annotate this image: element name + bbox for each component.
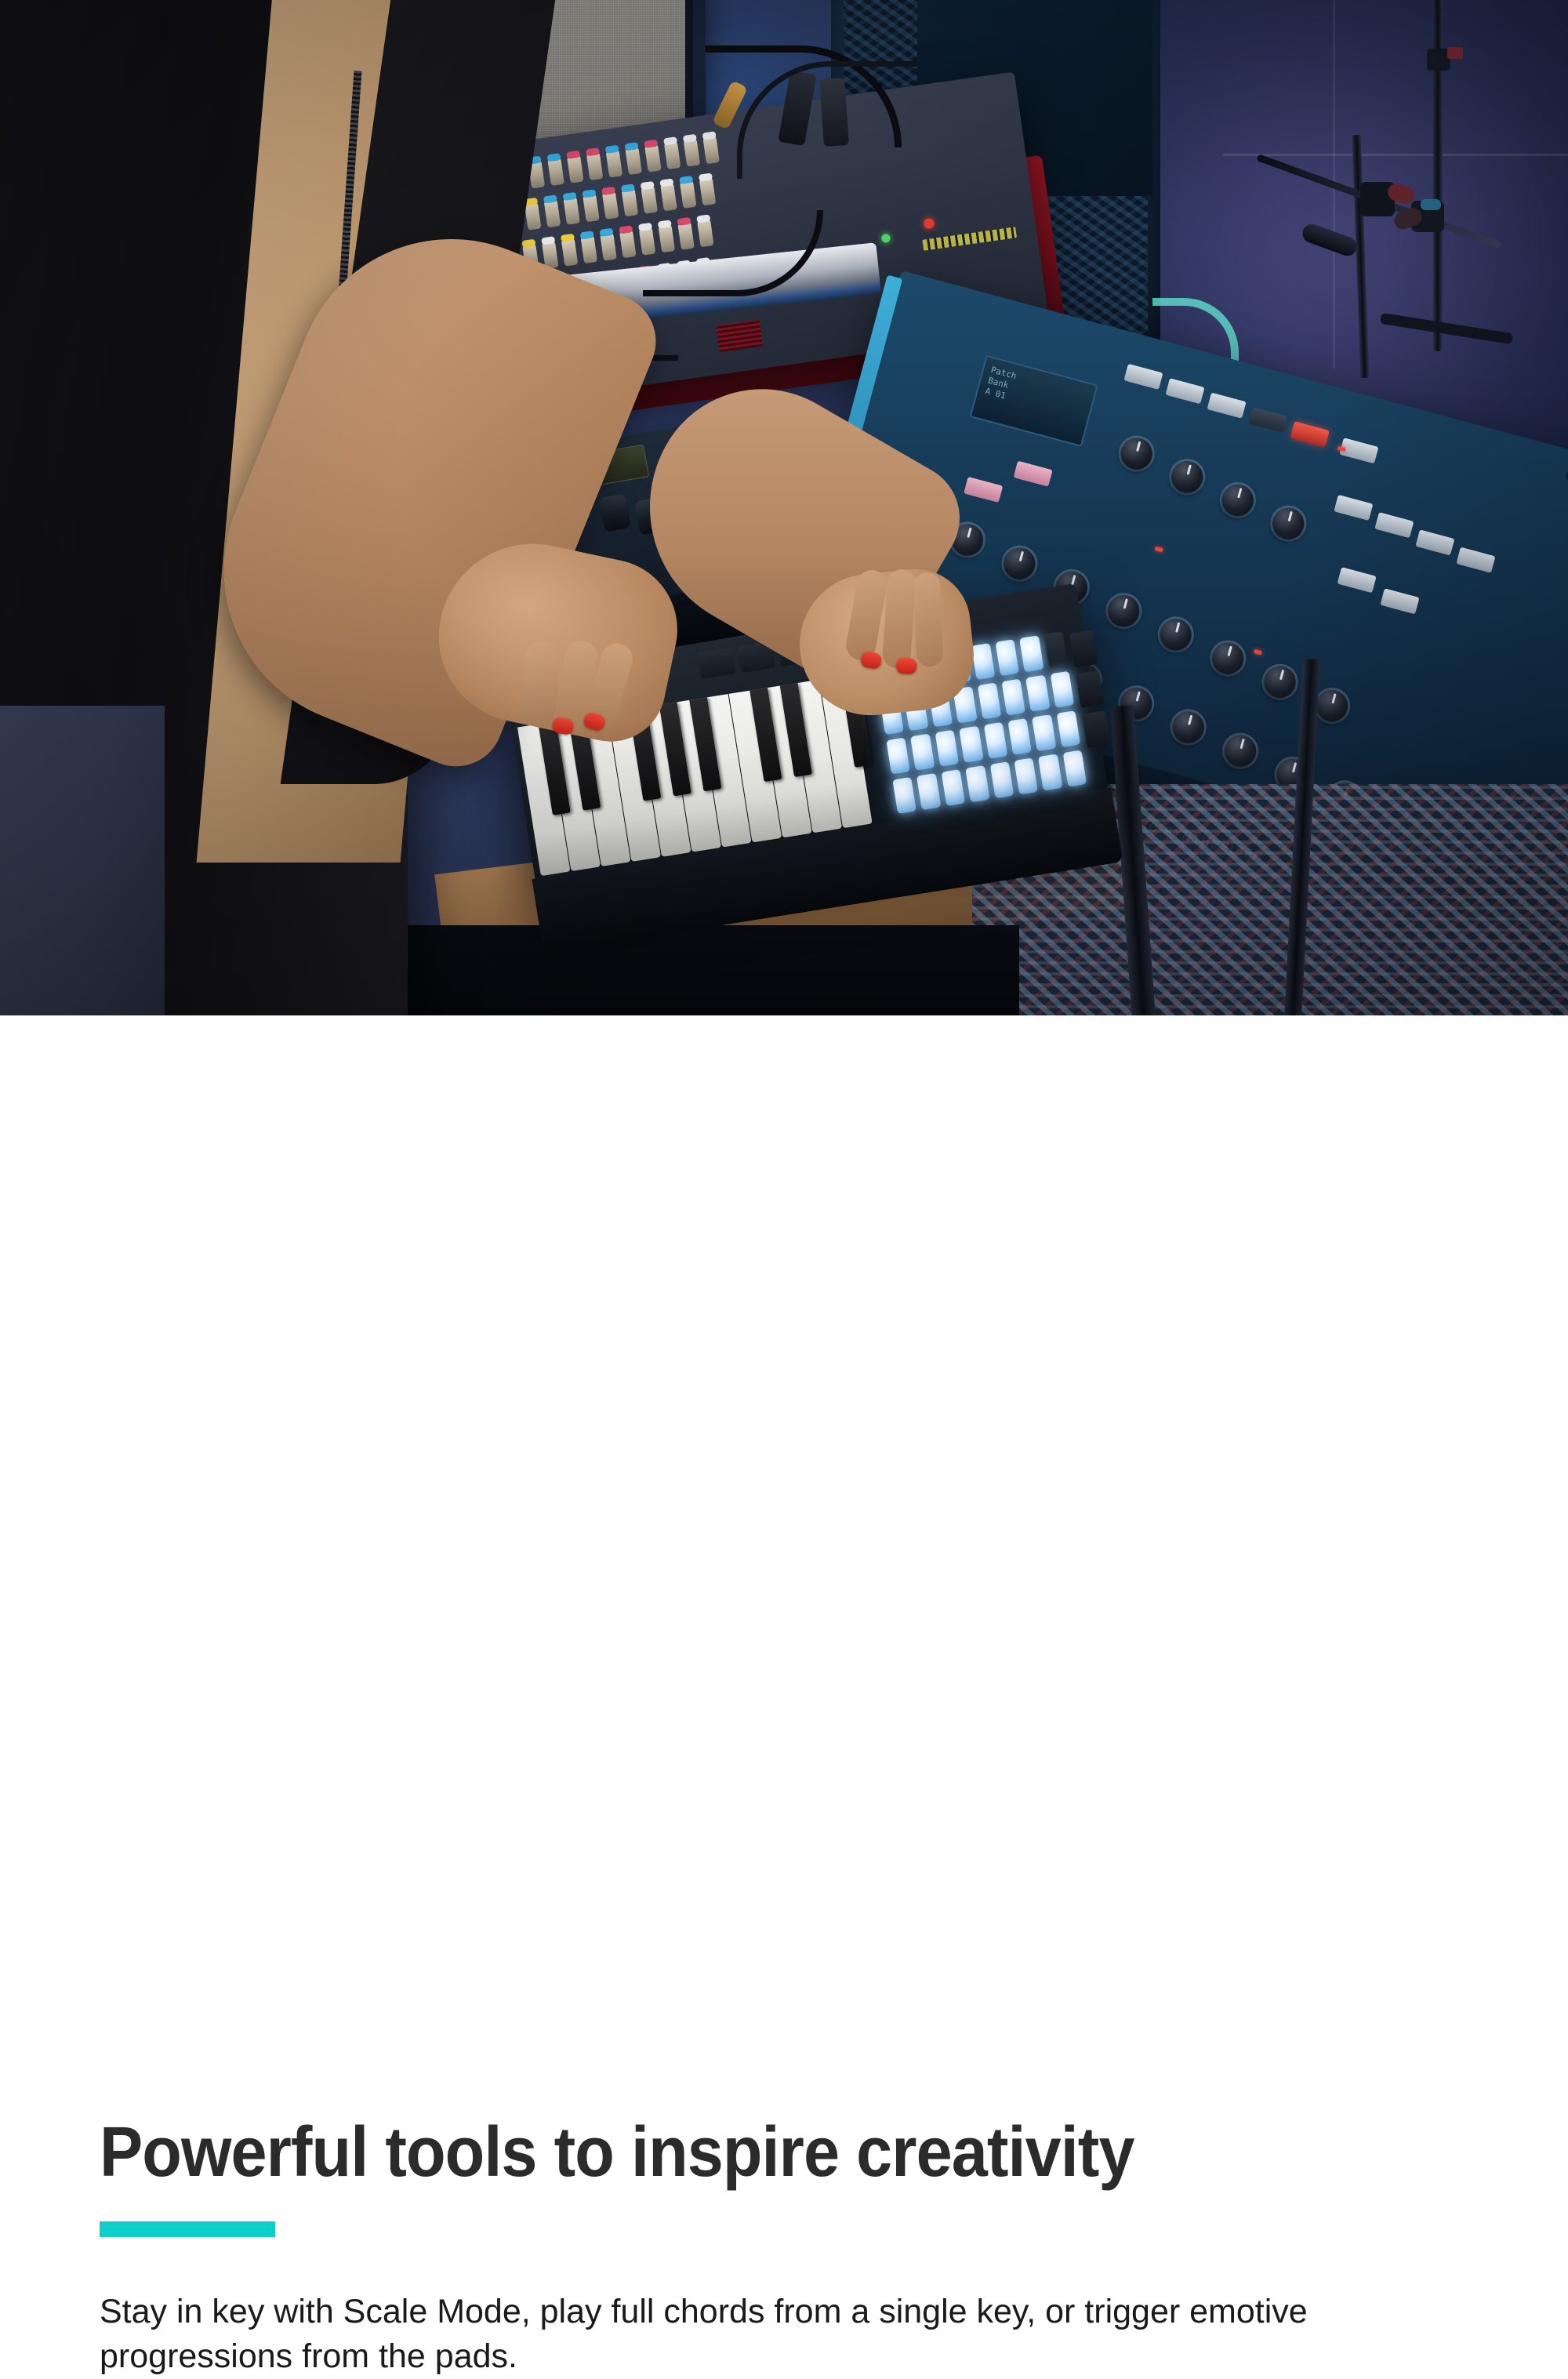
pad[interactable] xyxy=(1014,757,1038,794)
pad[interactable] xyxy=(941,769,965,806)
pad[interactable] xyxy=(977,682,1001,719)
pad[interactable] xyxy=(1007,718,1032,755)
pad[interactable] xyxy=(983,722,1007,759)
groovebox-knob-1 xyxy=(599,493,631,532)
pad[interactable] xyxy=(1025,675,1050,712)
pad[interactable] xyxy=(1032,714,1056,751)
finger xyxy=(882,568,917,669)
red-nail xyxy=(860,651,883,670)
pad[interactable] xyxy=(989,761,1014,798)
pad[interactable] xyxy=(935,730,959,767)
finger xyxy=(913,572,943,667)
red-nail xyxy=(896,658,917,674)
wall-seam xyxy=(1223,154,1568,156)
pad[interactable] xyxy=(965,765,989,802)
transport-button-1 xyxy=(698,648,736,679)
page-title: Powerful tools to inspire creativity xyxy=(100,2117,1134,2188)
hero-photo: ORANGE xyxy=(0,0,1568,1015)
pad[interactable] xyxy=(971,643,995,680)
feature-description: Stay in key with Scale Mode, play full c… xyxy=(100,2290,1385,2379)
pad[interactable] xyxy=(995,639,1019,676)
feature-text-section: Powerful tools to inspire creativity Sta… xyxy=(0,1015,1568,1568)
pad[interactable] xyxy=(910,734,935,771)
pad[interactable] xyxy=(916,773,941,810)
pad[interactable] xyxy=(959,726,983,763)
mic-stand-blue-highlight xyxy=(1421,199,1441,210)
pad[interactable] xyxy=(1038,754,1062,790)
musician-jeans xyxy=(0,706,165,1015)
pad[interactable] xyxy=(1019,635,1044,672)
mic-stand-red-knob xyxy=(1447,47,1463,59)
product-feature-page: ORANGE xyxy=(0,0,1568,1568)
accent-underline-bar xyxy=(100,2221,275,2237)
pad[interactable] xyxy=(1001,679,1025,716)
